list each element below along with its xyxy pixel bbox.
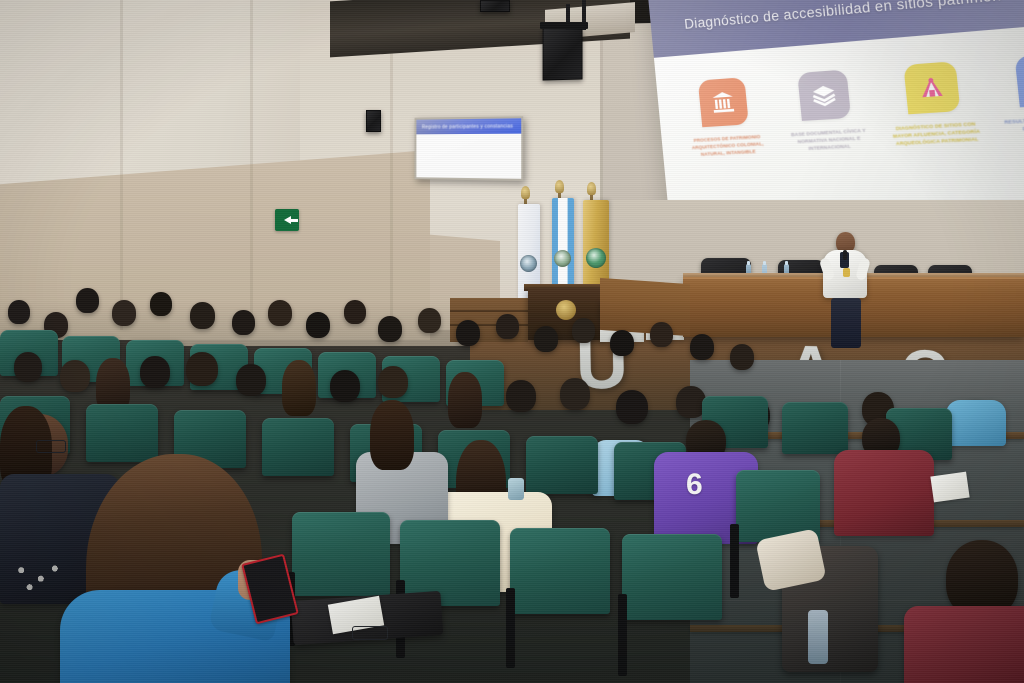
- auditorium-photo: Registro de participantes y constancias …: [0, 0, 1024, 683]
- microphone-icon: [843, 250, 847, 260]
- slide-caption: DIAGNÓSTICO DE SITIOS CON MAYOR AFLUENCI…: [891, 121, 982, 148]
- attendee-head: [140, 356, 170, 388]
- circle-icon: [1015, 52, 1024, 107]
- wall-seam: [250, 0, 253, 330]
- projection-screen: Diagnóstico de accesibilidad en sitios p…: [648, 0, 1024, 228]
- phone-icon: [508, 478, 524, 500]
- attendee-head: [610, 330, 634, 356]
- attendee-hair: [282, 360, 316, 416]
- attendee-head: [496, 314, 519, 339]
- attendee-head: [378, 316, 402, 342]
- seat[interactable]: [292, 512, 390, 596]
- seat[interactable]: [510, 528, 610, 614]
- wall-seam: [120, 0, 123, 330]
- attendee-head: [190, 302, 215, 329]
- seat-frame: [730, 524, 739, 598]
- attendee-head: [112, 300, 136, 326]
- pyramid-icon: [903, 61, 960, 114]
- attendee-head: [150, 292, 172, 316]
- attendee-hair: [448, 372, 482, 428]
- attendee-head: [14, 352, 42, 382]
- attendee-head: [60, 360, 90, 392]
- slide-column: BASE DOCUMENTAL CÍVICA Y NORMATIVA NACIO…: [781, 68, 872, 154]
- ceremonial-banner-seal: [586, 248, 606, 268]
- seat-frame: [506, 588, 515, 668]
- exit-arrow-icon: [284, 216, 291, 224]
- attendee-top: [946, 400, 1006, 446]
- slide-caption: BASE DOCUMENTAL CÍVICA Y NORMATIVA NACIO…: [786, 127, 872, 153]
- slide-body: PROCESOS DE PATRIMONIO ARQUITECTÓNICO CO…: [654, 21, 1024, 228]
- attendee-head: [456, 320, 480, 346]
- layers-icon: [798, 69, 852, 121]
- tv-title-bar: Registro de participantes y constancias: [416, 118, 521, 134]
- attendee-head: [76, 288, 99, 313]
- seat[interactable]: [86, 404, 158, 462]
- attendee-head: [560, 378, 590, 410]
- seat[interactable]: [622, 534, 722, 620]
- museum-icon: [698, 77, 749, 127]
- attendee-head: [690, 334, 714, 360]
- attendee-head: [650, 322, 673, 347]
- seat[interactable]: [782, 402, 848, 454]
- slide-caption: RESULTADOS DE CONDICIONES DE ACCESIBILID…: [1002, 114, 1024, 135]
- attendee-head: [268, 300, 292, 326]
- university-flag-seal: [520, 255, 537, 272]
- attendee-head: [186, 352, 218, 386]
- attendee-head: [330, 370, 360, 402]
- floral-pattern: [10, 560, 66, 594]
- seat-frame: [618, 594, 627, 676]
- attendee-head: [534, 326, 558, 352]
- guatemala-flag-seal: [554, 250, 571, 267]
- seat[interactable]: [262, 418, 334, 476]
- speaker-bracket: [540, 22, 588, 29]
- attendee-top: [904, 606, 1024, 683]
- ceiling-vent: [480, 0, 510, 12]
- slide-column: PROCESOS DE PATRIMONIO ARQUITECTÓNICO CO…: [682, 76, 769, 159]
- tv-content: [416, 134, 521, 181]
- attendee-head: [418, 308, 441, 333]
- jersey-number: 6: [686, 468, 703, 502]
- water-bottle: [808, 610, 828, 664]
- wall-tv[interactable]: Registro de participantes y constancias: [415, 116, 524, 181]
- attendee-head: [306, 312, 330, 338]
- attendee-head: [730, 344, 754, 370]
- flag-finial-icon: [521, 186, 530, 199]
- presenter-badge-icon: [843, 268, 850, 277]
- seat[interactable]: [526, 436, 598, 494]
- attendee-head: [8, 300, 30, 324]
- slide-title: Diagnóstico de accesibilidad en sitios p…: [650, 0, 1002, 34]
- exit-sign: [275, 209, 299, 231]
- slide-caption: PROCESOS DE PATRIMONIO ARQUITECTÓNICO CO…: [687, 134, 768, 160]
- attendee-hair: [370, 400, 414, 470]
- attendee-head: [506, 380, 536, 412]
- attendee-top: [834, 450, 934, 536]
- attendee-head: [236, 364, 266, 396]
- notebook-page: [930, 472, 969, 503]
- slide-column: RESULTADOS DE CONDICIONES DE ACCESIBILID…: [996, 51, 1024, 135]
- attendee-head: [572, 318, 595, 343]
- tv-title-text: Registro de participantes y constancias: [416, 123, 513, 130]
- eyeglasses-icon: [352, 626, 388, 640]
- flag-finial-icon: [555, 180, 564, 193]
- slide-column: DIAGNÓSTICO DE SITIOS CON MAYOR AFLUENCI…: [885, 60, 982, 148]
- attendee-head: [232, 310, 255, 335]
- ceiling-speaker-icon: [543, 27, 583, 80]
- attendee-head: [378, 366, 408, 398]
- flag-finial-icon: [587, 182, 596, 195]
- wall-speaker-icon: [366, 110, 381, 132]
- attendee-head: [616, 390, 648, 424]
- attendee-head: [344, 300, 366, 324]
- eyeglasses-icon: [36, 440, 66, 453]
